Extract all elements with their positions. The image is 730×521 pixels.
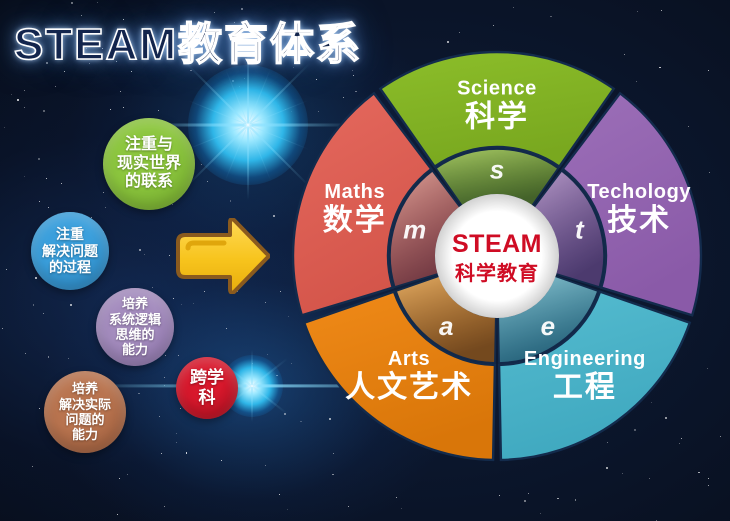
keyword-bubble-blue[interactable]: 注重解决问题的过程 [31,212,109,290]
keyword-bubble-label: 注重与现实世界的联系 [111,136,187,193]
keyword-bubble-green[interactable]: 注重与现实世界的联系 [103,118,195,210]
right-arrow-icon [172,218,270,294]
wheel-label-en-arts: Arts [388,348,430,370]
wheel-label-en-technology: Techology [587,181,691,203]
keyword-bubble-label: 跨学科 [176,368,238,408]
keyword-bubble-label: 培养系统逻辑思维的能力 [103,296,167,357]
wheel-label-cn-arts: 人文艺术 [345,370,473,404]
wheel-hub-title-cn: 科学教育 [455,261,539,285]
infographic-canvas: STEAM教育体系 注重与现实世界的联系注重解决问题的过程培养系统逻辑思维的能力… [0,0,730,521]
wheel-label-en-maths: Maths [324,181,385,203]
wheel-ring-letter-maths: m [403,214,426,244]
steam-wheel-chart: Science科学sTechology技术tEngineering工程eArts… [293,52,701,460]
keyword-bubble-purple[interactable]: 培养系统逻辑思维的能力 [96,288,174,366]
keyword-bubble-label: 注重解决问题的过程 [36,226,104,276]
wheel-ring-letter-engineering: e [541,311,555,341]
wheel-ring-letter-science: s [490,155,504,185]
keyword-bubble-label: 培养解决实际问题的能力 [53,381,117,442]
wheel-ring-letter-technology: t [575,214,585,244]
wheel-label-cn-science: 科学 [465,100,529,134]
wheel-hub-title-en: STEAM [452,230,542,258]
keyword-bubble-brown[interactable]: 培养解决实际问题的能力 [44,371,126,453]
wheel-label-en-engineering: Engineering [524,348,646,370]
keyword-bubble-red[interactable]: 跨学科 [176,357,238,419]
wheel-label-cn-engineering: 工程 [553,371,617,404]
wheel-label-cn-maths: 数学 [323,203,387,237]
wheel-label-cn-technology: 技术 [607,204,671,237]
wheel-label-en-science: Science [457,78,537,100]
wheel-ring-letter-arts: a [439,311,453,341]
